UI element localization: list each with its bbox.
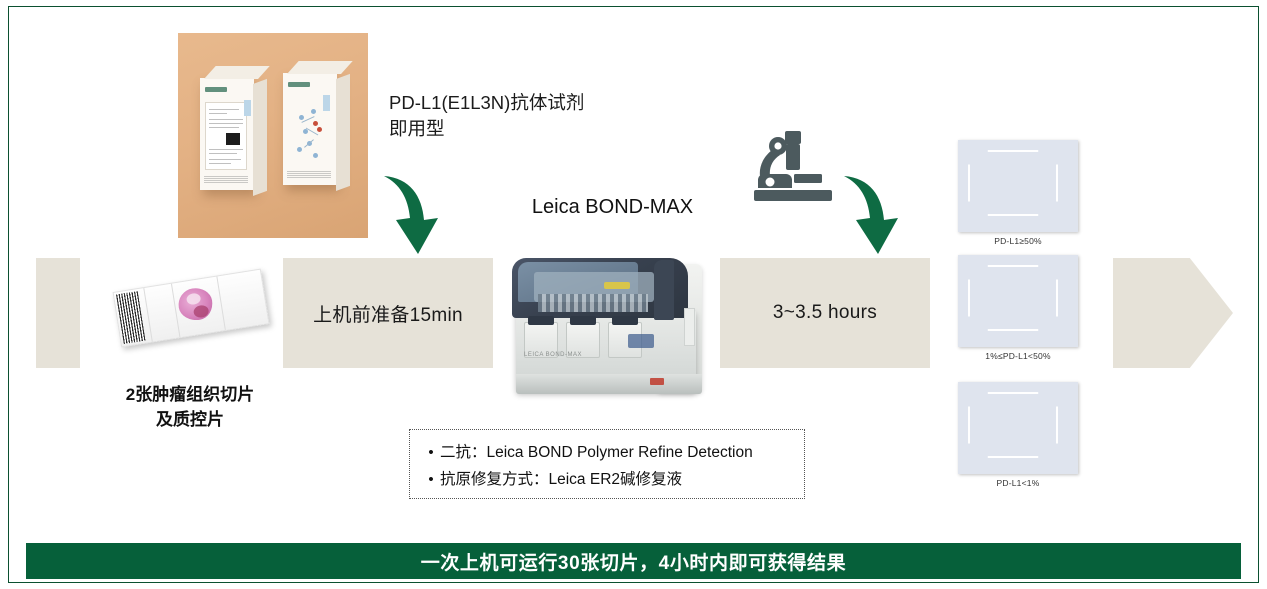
sample-caption-line2: 及质控片 xyxy=(82,407,298,432)
note-item: • 抗原修复方式：Leica ER2碱修复液 xyxy=(422,466,804,493)
ihc-caption-2: 1%≤PD-L1<50% xyxy=(958,351,1078,361)
workflow-diagram: PD-L1(E1L3N)抗体试剂 即用型 2张肿瘤组织切片 及质控片 上机前准备… xyxy=(0,0,1267,589)
instrument-title: Leica BOND-MAX xyxy=(505,196,720,219)
ihc-high-expression: PD-L1≥50% xyxy=(958,140,1078,246)
down-arrow-icon-2 xyxy=(838,168,934,260)
reagent-box-right xyxy=(283,73,337,185)
bullet-icon: • xyxy=(422,466,440,493)
barcode-icon xyxy=(116,291,146,344)
reagent-caption: PD-L1(E1L3N)抗体试剂 即用型 xyxy=(389,90,649,142)
bullet-icon: • xyxy=(422,439,440,466)
tumor-tissue-slide xyxy=(110,270,270,360)
sample-caption-line1: 2张肿瘤组织切片 xyxy=(82,382,298,407)
reagent-caption-line2: 即用型 xyxy=(389,116,649,142)
step-runtime-label: 3~3.5 hours xyxy=(720,258,930,368)
ihc-caption-1: PD-L1≥50% xyxy=(958,236,1078,246)
note-text-2: 抗原修复方式：Leica ER2碱修复液 xyxy=(440,466,804,493)
down-arrow-icon-1 xyxy=(378,168,474,260)
reagent-box-left xyxy=(200,78,254,190)
step-preparation-box: 上机前准备15min xyxy=(283,258,493,368)
step-runtime-box: 3~3.5 hours xyxy=(720,258,930,368)
ihc-intermediate-expression: 1%≤PD-L1<50% xyxy=(958,255,1078,361)
leica-bond-max-stainer: LEICA BOND-MAX xyxy=(508,248,712,408)
summary-banner: 一次上机可运行30张切片，4小时内即可获得结果 xyxy=(26,543,1241,579)
protocol-note-box: • 二抗：Leica BOND Polymer Refine Detection… xyxy=(409,429,805,499)
summary-banner-text: 一次上机可运行30张切片，4小时内即可获得结果 xyxy=(421,548,847,575)
start-block xyxy=(36,258,80,368)
pd-l1-antibody-reagent-boxes xyxy=(178,33,368,238)
microscope-icon xyxy=(748,128,838,210)
sample-caption: 2张肿瘤组织切片 及质控片 xyxy=(82,382,298,432)
ihc-caption-3: PD-L1<1% xyxy=(958,478,1078,488)
ihc-negative-expression: PD-L1<1% xyxy=(958,382,1078,488)
note-item: • 二抗：Leica BOND Polymer Refine Detection xyxy=(422,439,804,466)
reagent-caption-line1: PD-L1(E1L3N)抗体试剂 xyxy=(389,90,649,116)
note-text-1: 二抗：Leica BOND Polymer Refine Detection xyxy=(440,439,804,466)
step-preparation-label: 上机前准备15min xyxy=(283,258,493,368)
